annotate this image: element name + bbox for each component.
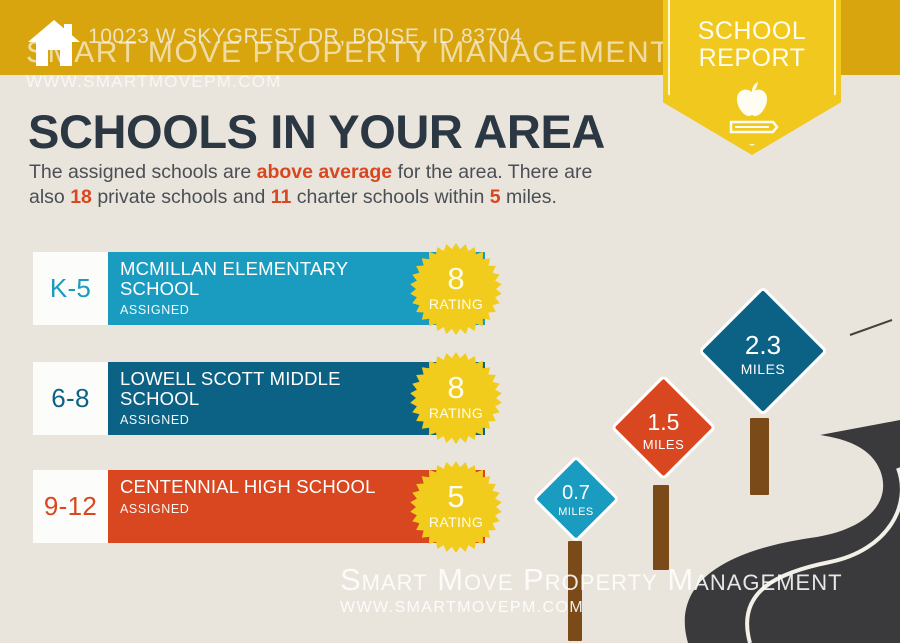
sign-distance-value: 1.5 — [626, 411, 701, 434]
rating-label: RATING — [410, 296, 502, 312]
school-name: LOWELL SCOTT MIDDLE SCHOOL — [120, 369, 420, 408]
rating-badge: 8 RATING — [410, 352, 502, 444]
sign-distance-value: 0.7 — [545, 483, 607, 503]
rating-value: 8 — [410, 261, 502, 297]
sign-distance-unit: MILES — [545, 507, 607, 518]
watermark-bottom-url: WWW.SMARTMOVEPM.COM — [340, 599, 900, 617]
rating-label: RATING — [410, 405, 502, 421]
pennant-title: SCHOOL REPORT — [663, 18, 841, 72]
sign-distance-value: 2.3 — [717, 332, 809, 358]
page-title: SCHOOLS IN YOUR AREA — [28, 104, 605, 159]
grade-range-box: K-5 — [33, 252, 108, 325]
pennant-line-1: SCHOOL — [663, 18, 841, 45]
rating-value: 8 — [410, 370, 502, 406]
grade-range-label: 6-8 — [51, 383, 89, 414]
watermark-bottom-title: Smart Move Property Management — [340, 562, 900, 598]
rating-badge: 8 RATING — [410, 243, 502, 335]
pennant-line-2: REPORT — [663, 45, 841, 72]
sign-distance-unit: MILES — [626, 438, 701, 451]
watermark-top: SMART MOVE PROPERTY MANAGEMENT WWW.SMART… — [26, 36, 666, 92]
sign-post — [653, 485, 669, 570]
apple-on-book-icon — [719, 80, 785, 140]
grade-range-box: 9-12 — [33, 470, 108, 543]
grade-range-label: 9-12 — [44, 491, 97, 522]
infographic-page: 10023 W SKYGREST DR, BOISE, ID 83704 SMA… — [0, 0, 900, 643]
grade-range-box: 6-8 — [33, 362, 108, 435]
rating-badge: 5 RATING — [410, 461, 502, 553]
sign-wire — [850, 320, 892, 335]
school-name: MCMILLAN ELEMENTARY SCHOOL — [120, 259, 420, 298]
school-name: CENTENNIAL HIGH SCHOOL — [120, 477, 420, 497]
watermark-top-title: SMART MOVE PROPERTY MANAGEMENT — [26, 36, 666, 70]
page-subtitle: The assigned schools are above average f… — [29, 160, 629, 210]
sign-distance-unit: MILES — [717, 362, 809, 376]
watermark-top-url: WWW.SMARTMOVEPM.COM — [26, 72, 666, 92]
rating-value: 5 — [410, 479, 502, 515]
rating-label: RATING — [410, 514, 502, 530]
watermark-bottom: Smart Move Property Management WWW.SMART… — [340, 562, 900, 617]
sign-text: 2.3 MILES — [717, 332, 809, 376]
grade-range-label: K-5 — [50, 273, 91, 304]
school-report-pennant: SCHOOL REPORT — [663, 0, 841, 155]
sign-text: 0.7 MILES — [545, 483, 607, 518]
sign-text: 1.5 MILES — [626, 411, 701, 451]
sign-post — [750, 418, 769, 495]
